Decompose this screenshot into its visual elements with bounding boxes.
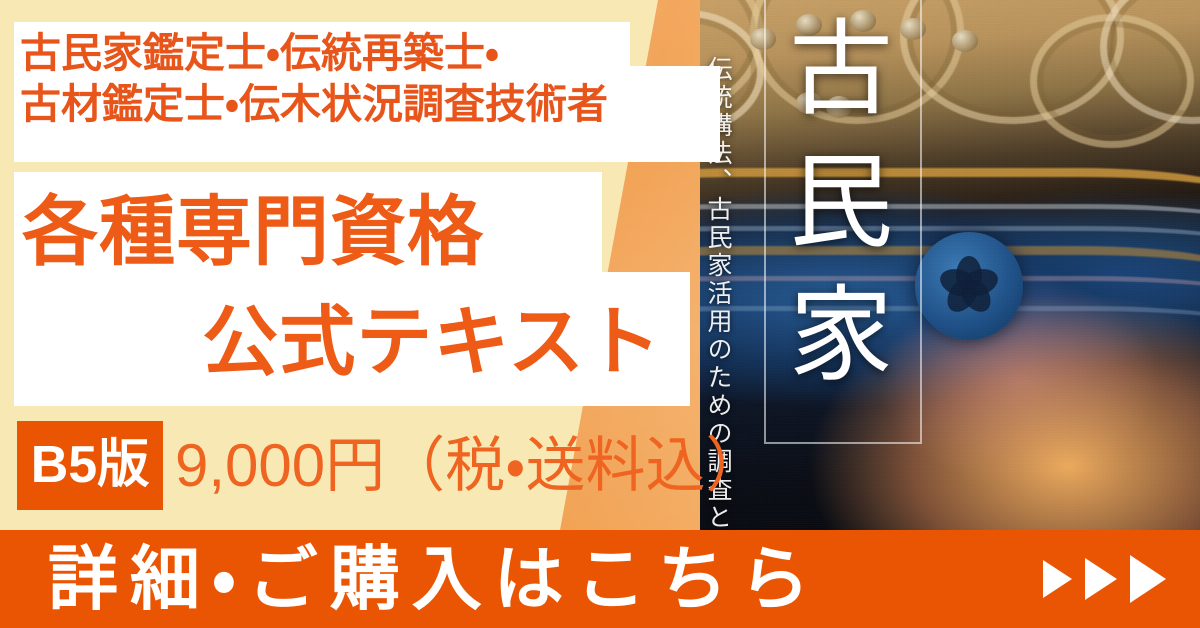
main-title-line-2: 公式テキスト [0,288,690,398]
cta-bar[interactable]: 詳細・ご購入はこちら [0,530,1200,628]
triangle-right-icon [1130,555,1166,603]
cta-label: 詳細・ご購入はこちら [48,530,822,628]
promo-banner: 古 民 家 伝統構法、古民家活用のための調査と再生の 古民家鑑定士・伝統再築士・… [0,0,1200,628]
headline: 古民家鑑定士・伝統再築士・ 古材鑑定士・伝木状況調査技術者 [20,28,720,130]
price-text: 9,000円（税・送料込） [175,424,766,508]
format-badge: B5版 [17,421,163,510]
cover-title: 古 民 家 [780,4,904,424]
cover-title-char-1: 古 [780,4,904,137]
triangle-right-icon [1043,560,1072,598]
triangle-right-icon [1085,558,1117,600]
main-title: 各種専門資格 公式テキスト [0,178,690,398]
cover-title-char-3: 家 [780,270,904,403]
headline-line-2: 古材鑑定士・伝木状況調査技術者 [20,79,720,130]
cover-title-char-2: 民 [780,137,904,270]
cta-arrows [1043,530,1166,628]
main-title-line-1: 各種専門資格 [0,178,690,288]
headline-line-1: 古民家鑑定士・伝統再築士・ [20,28,720,79]
